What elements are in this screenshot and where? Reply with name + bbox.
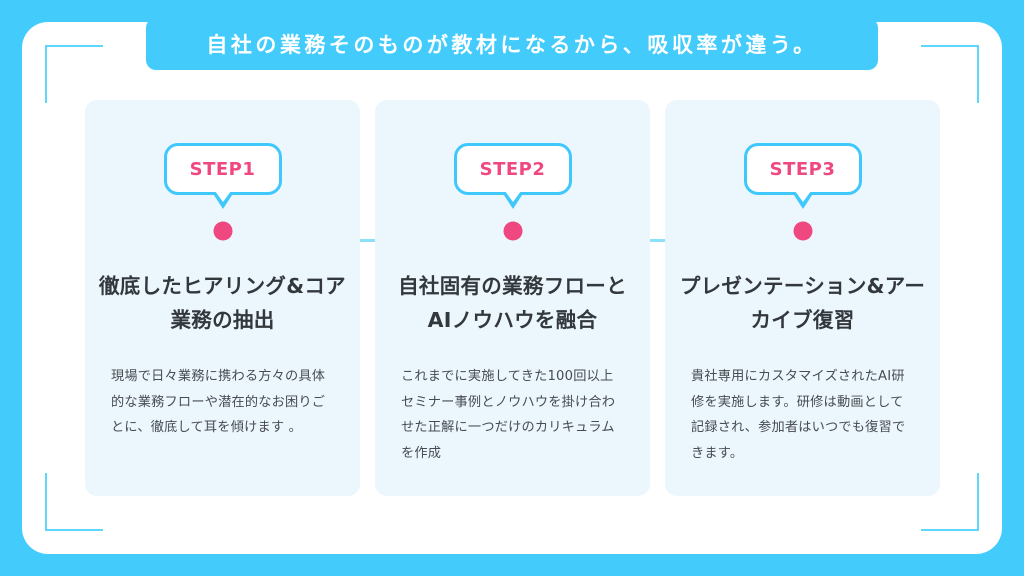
step-badge-1: STEP1 — [164, 143, 282, 195]
step-body: これまでに実施してきた100回以上セミナー事例とノウハウを掛け合わせた正解に一つ… — [401, 364, 624, 467]
steps-container: STEP1 徹底したヒアリング&コア業務の抽出 現場で日々業務に携わる方々の具体… — [85, 100, 940, 496]
headline-banner: 自社の業務そのものが教材になるから、吸収率が違う。 — [146, 18, 878, 70]
timeline-node-dot-2 — [503, 222, 522, 241]
step-title: 自社固有の業務フローとAIノウハウを融合 — [389, 270, 636, 338]
badge-tail-inner-icon — [505, 191, 521, 202]
step-title: プレゼンテーション&アーカイブ復習 — [679, 270, 926, 338]
step-badge-2: STEP2 — [454, 143, 572, 195]
slide-root: 自社の業務そのものが教材になるから、吸収率が違う。 STEP1 徹底したヒアリン… — [0, 0, 1024, 576]
step-title: 徹底したヒアリング&コア業務の抽出 — [99, 270, 346, 338]
step-badge-label: STEP2 — [480, 159, 546, 180]
timeline-node-dot-3 — [793, 222, 812, 241]
step-body: 貴社専用にカスタマイズされたAI研修を実施します。研修は動画として記録され、参加… — [691, 364, 914, 467]
step-body: 現場で日々業務に携わる方々の具体的な業務フローや潜在的なお困りごとに、徹底して耳… — [111, 364, 334, 441]
step-card: STEP1 徹底したヒアリング&コア業務の抽出 現場で日々業務に携わる方々の具体… — [85, 100, 360, 496]
badge-tail-inner-icon — [795, 191, 811, 202]
step-badge-label: STEP3 — [770, 159, 836, 180]
step-badge-label: STEP1 — [190, 159, 256, 180]
step-card: STEP3 プレゼンテーション&アーカイブ復習 貴社専用にカスタマイズされたAI… — [665, 100, 940, 496]
step-card: STEP2 自社固有の業務フローとAIノウハウを融合 これまでに実施してきた10… — [375, 100, 650, 496]
badge-tail-inner-icon — [215, 191, 231, 202]
step-badge-3: STEP3 — [744, 143, 862, 195]
timeline-node-dot-1 — [213, 222, 232, 241]
